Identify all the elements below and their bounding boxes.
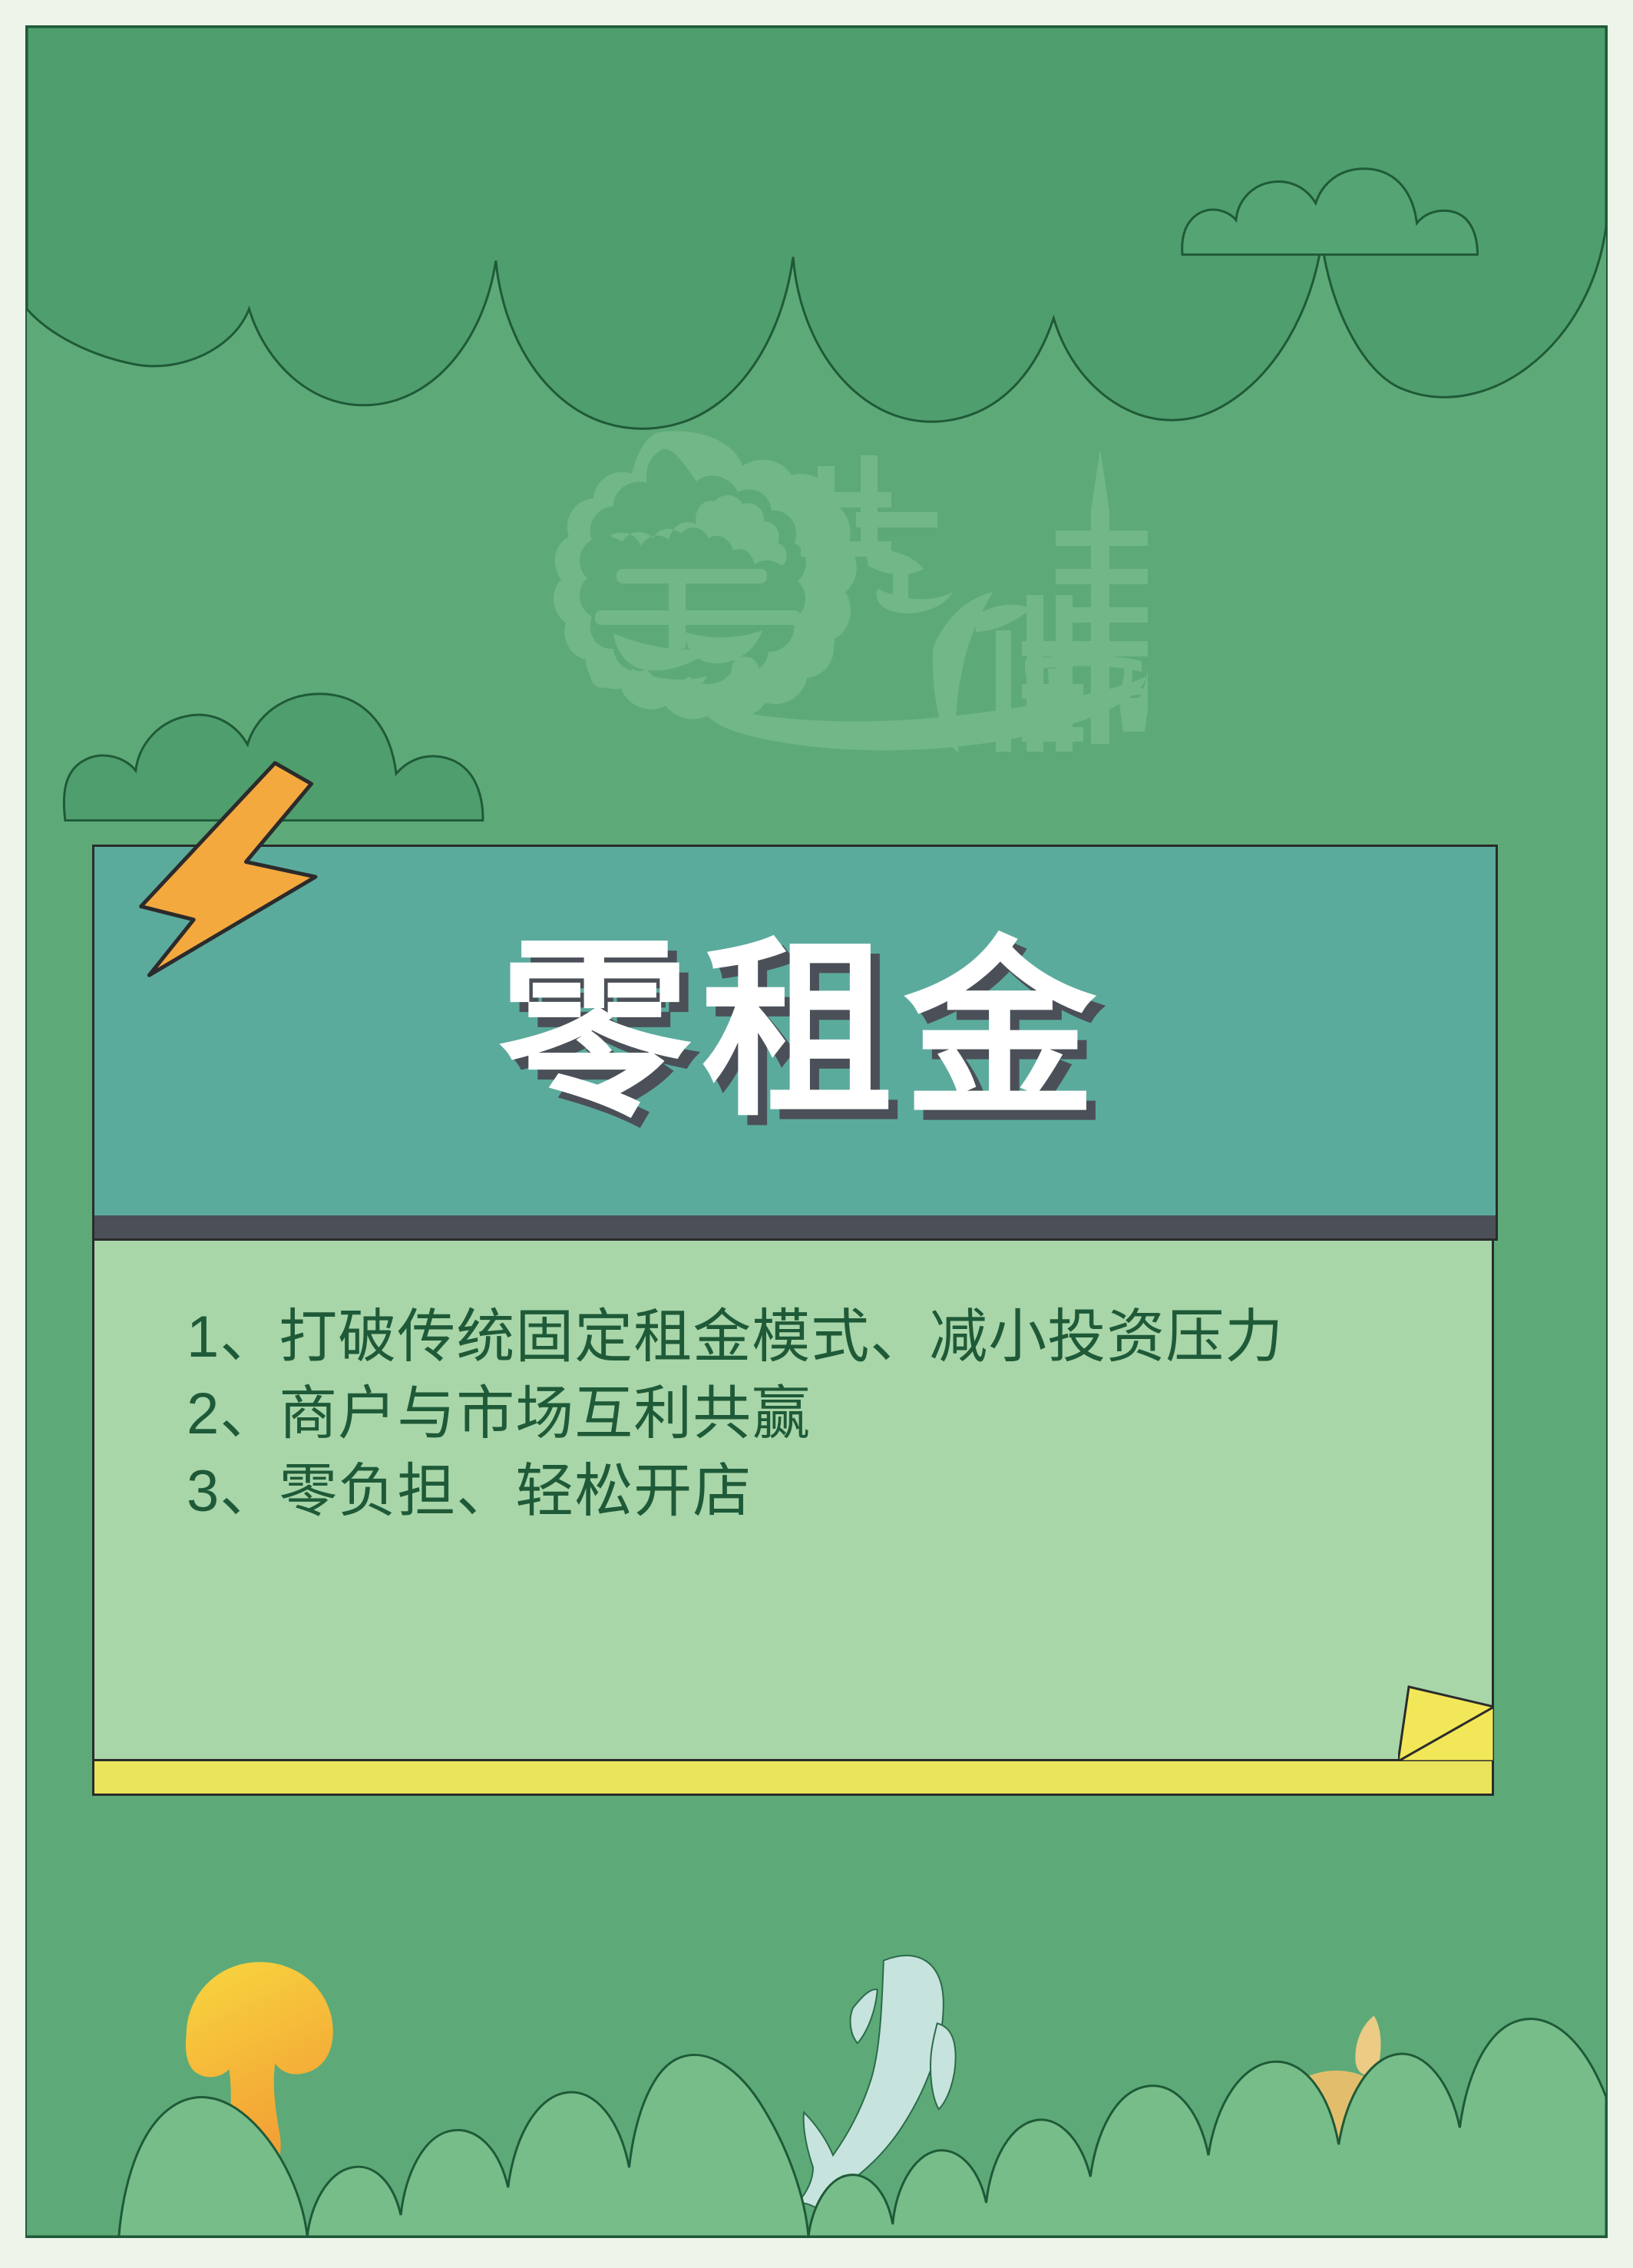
poster-canvas: 零租金 1、打破传统固定租金模式、减小投资压力 2、商户与市场互利共赢 3、零负… [25, 25, 1608, 2238]
bullet-item-2: 2、商户与市场互利共赢 [187, 1376, 1492, 1453]
bullet-item-1: 1、打破传统固定租金模式、减小投资压力 [187, 1299, 1331, 1376]
folded-corner-icon [1398, 1658, 1494, 1761]
poster-root: 零租金 1、打破传统固定租金模式、减小投资压力 2、商户与市场互利共赢 3、零负… [0, 0, 1633, 2268]
card-divider [92, 1215, 1498, 1241]
card-footer-strip [92, 1759, 1494, 1796]
bullet-item-3: 3、零负担、轻松开店 [187, 1453, 1492, 1530]
page-title: 零租金 [484, 935, 1107, 1127]
lightning-bolt-icon [100, 752, 353, 1052]
card-body: 1、打破传统固定租金模式、减小投资压力 2、商户与市场互利共赢 3、零负担、轻松… [92, 1241, 1494, 1759]
